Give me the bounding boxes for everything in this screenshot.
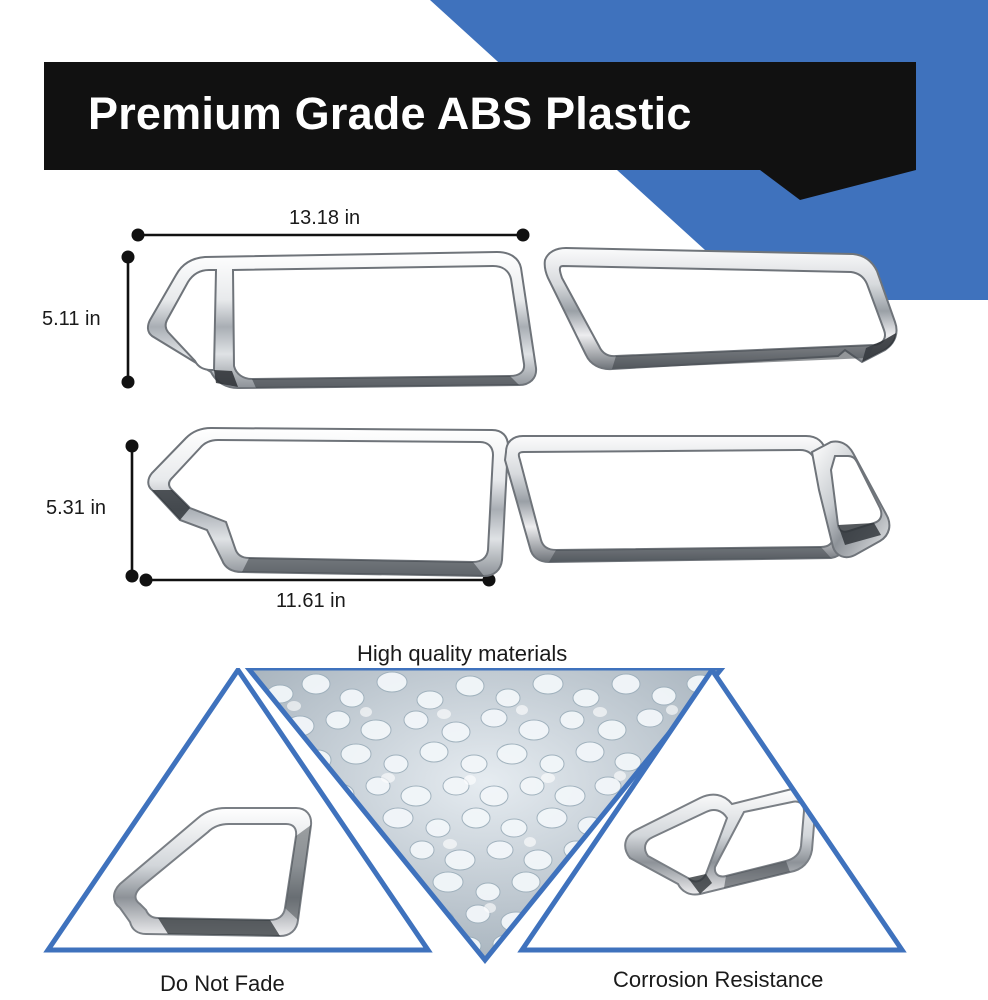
- dimension-label-bottom-width: 11.61 in: [276, 590, 346, 613]
- caption-materials: High quality materials: [357, 641, 567, 667]
- caption-do-not-fade: Do Not Fade: [160, 971, 285, 997]
- caption-corrosion-resistance: Corrosion Resistance: [613, 967, 823, 993]
- chrome-trim-bottom-right: [505, 436, 889, 562]
- banner-title: Premium Grade ABS Plastic: [88, 88, 692, 140]
- dimension-label-top-width: 13.18 in: [289, 207, 360, 230]
- dimension-label-bottom-height: 5.31 in: [46, 497, 106, 520]
- dimension-line-bottom-height: [126, 440, 139, 583]
- chrome-trim-top-left: [148, 252, 536, 388]
- chrome-trim-top-right: [545, 248, 897, 369]
- banner: Premium Grade ABS Plastic: [0, 0, 988, 200]
- chrome-trim-bottom-left: [148, 428, 508, 576]
- product-infographic: Premium Grade ABS Plastic: [0, 0, 988, 1000]
- dimension-label-top-height: 5.11 in: [42, 308, 101, 331]
- dimension-line-top-width: [132, 229, 530, 242]
- dimension-line-top-height: [122, 251, 135, 389]
- feature-triangles: [0, 668, 988, 998]
